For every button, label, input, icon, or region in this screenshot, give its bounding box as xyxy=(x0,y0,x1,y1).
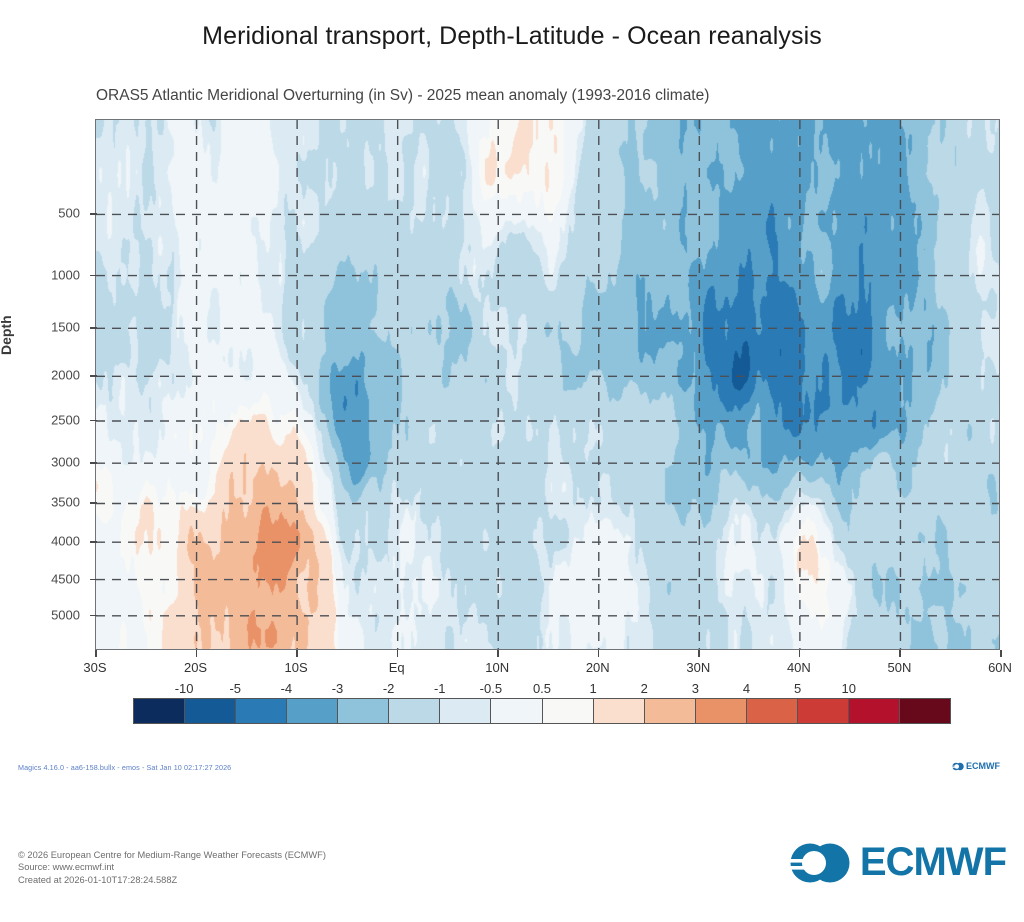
y-tick-mark xyxy=(90,579,97,581)
colorbar-tick-label: 4 xyxy=(719,681,775,696)
ecmwf-mark-small xyxy=(952,762,964,771)
colorbar-cell xyxy=(747,699,798,723)
x-tick-label: Eq xyxy=(367,660,427,675)
colorbar-tick-label: -2 xyxy=(361,681,417,696)
colorbar-tick-label: -0.5 xyxy=(463,681,519,696)
x-tick-label: 40N xyxy=(769,660,829,675)
ecmwf-wordmark: ECMWF xyxy=(860,840,1006,885)
x-tick-label: 20S xyxy=(166,660,226,675)
y-tick-mark xyxy=(90,327,97,329)
colorbar-cell xyxy=(185,699,236,723)
colorbar-cell xyxy=(338,699,389,723)
colorbar-cell xyxy=(389,699,440,723)
y-tick-label: 4000 xyxy=(28,534,80,549)
colorbar-cell xyxy=(798,699,849,723)
magics-logo: ECMWF xyxy=(952,761,1000,771)
y-axis-label: Depth xyxy=(0,315,14,355)
colorbar-cell xyxy=(645,699,696,723)
y-tick-mark xyxy=(90,502,97,504)
colorbar-cell xyxy=(696,699,747,723)
x-tick-label: 10S xyxy=(266,660,326,675)
contour-field xyxy=(96,120,1000,650)
x-tick-label: 50N xyxy=(869,660,929,675)
copyright-line: © 2026 European Centre for Medium-Range … xyxy=(18,849,326,861)
y-tick-label: 1000 xyxy=(28,267,80,282)
y-tick-mark xyxy=(90,213,97,215)
colorbar-cell xyxy=(236,699,287,723)
x-tick-mark xyxy=(196,650,198,657)
y-tick-label: 2500 xyxy=(28,412,80,427)
x-tick-label: 10N xyxy=(467,660,527,675)
x-tick-label: 60N xyxy=(970,660,1024,675)
x-tick-label: 30N xyxy=(668,660,728,675)
copyright-line: Created at 2026-01-10T17:28:24.588Z xyxy=(18,874,326,886)
colorbar-cell xyxy=(134,699,185,723)
page-title: Meridional transport, Depth-Latitude - O… xyxy=(0,22,1024,51)
y-tick-label: 3000 xyxy=(28,455,80,470)
y-tick-label: 5000 xyxy=(28,607,80,622)
colorbar-tick-label: -4 xyxy=(258,681,314,696)
colorbar-tick-label: 0.5 xyxy=(514,681,570,696)
chart-subtitle: ORAS5 Atlantic Meridional Overturning (i… xyxy=(96,87,709,105)
y-tick-mark xyxy=(90,462,97,464)
copyright-line: Source: www.ecmwf.int xyxy=(18,861,326,873)
colorbar-tick-label: 3 xyxy=(667,681,723,696)
y-tick-label: 4500 xyxy=(28,571,80,586)
colorbar-tick-label: -10 xyxy=(156,681,212,696)
y-tick-label: 2000 xyxy=(28,368,80,383)
colorbar-cell xyxy=(543,699,594,723)
y-tick-mark xyxy=(90,375,97,377)
colorbar-tick-label: 5 xyxy=(770,681,826,696)
x-tick-mark xyxy=(95,650,97,657)
x-tick-mark xyxy=(598,650,600,657)
x-tick-mark xyxy=(397,650,399,657)
y-tick-mark xyxy=(90,541,97,543)
y-tick-label: 1500 xyxy=(28,320,80,335)
magics-credit: Magics 4.16.0 - aa6-158.bullx - emos - S… xyxy=(18,763,231,772)
x-tick-mark xyxy=(899,650,901,657)
colorbar-cell xyxy=(594,699,645,723)
colorbar-tick-label: 2 xyxy=(616,681,672,696)
x-tick-label: 30S xyxy=(65,660,125,675)
ecmwf-mark-icon xyxy=(789,842,851,884)
x-tick-mark xyxy=(497,650,499,657)
y-tick-label: 500 xyxy=(28,206,80,221)
colorbar-cell xyxy=(440,699,491,723)
colorbar-tick-label: -3 xyxy=(310,681,366,696)
colorbar-cell xyxy=(849,699,900,723)
x-tick-label: 20N xyxy=(568,660,628,675)
x-tick-mark xyxy=(698,650,700,657)
y-tick-mark xyxy=(90,275,97,277)
colorbar-cell xyxy=(287,699,338,723)
copyright-block: © 2026 European Centre for Medium-Range … xyxy=(18,849,326,886)
colorbar-cell xyxy=(900,699,950,723)
y-tick-label: 3500 xyxy=(28,495,80,510)
colorbar-tick-label: -1 xyxy=(412,681,468,696)
y-tick-mark xyxy=(90,615,97,617)
ecmwf-logo: ECMWF xyxy=(789,840,1006,885)
x-tick-mark xyxy=(296,650,298,657)
magics-logo-text: ECMWF xyxy=(966,761,1000,771)
colorbar-tick-label: 1 xyxy=(565,681,621,696)
colorbar-tick-label: 10 xyxy=(821,681,877,696)
y-tick-mark xyxy=(90,420,97,422)
colorbar xyxy=(133,698,951,724)
x-tick-mark xyxy=(799,650,801,657)
colorbar-cell xyxy=(491,699,542,723)
colorbar-tick-label: -5 xyxy=(207,681,263,696)
chart-plot-area xyxy=(95,119,1000,650)
x-tick-mark xyxy=(1000,650,1002,657)
